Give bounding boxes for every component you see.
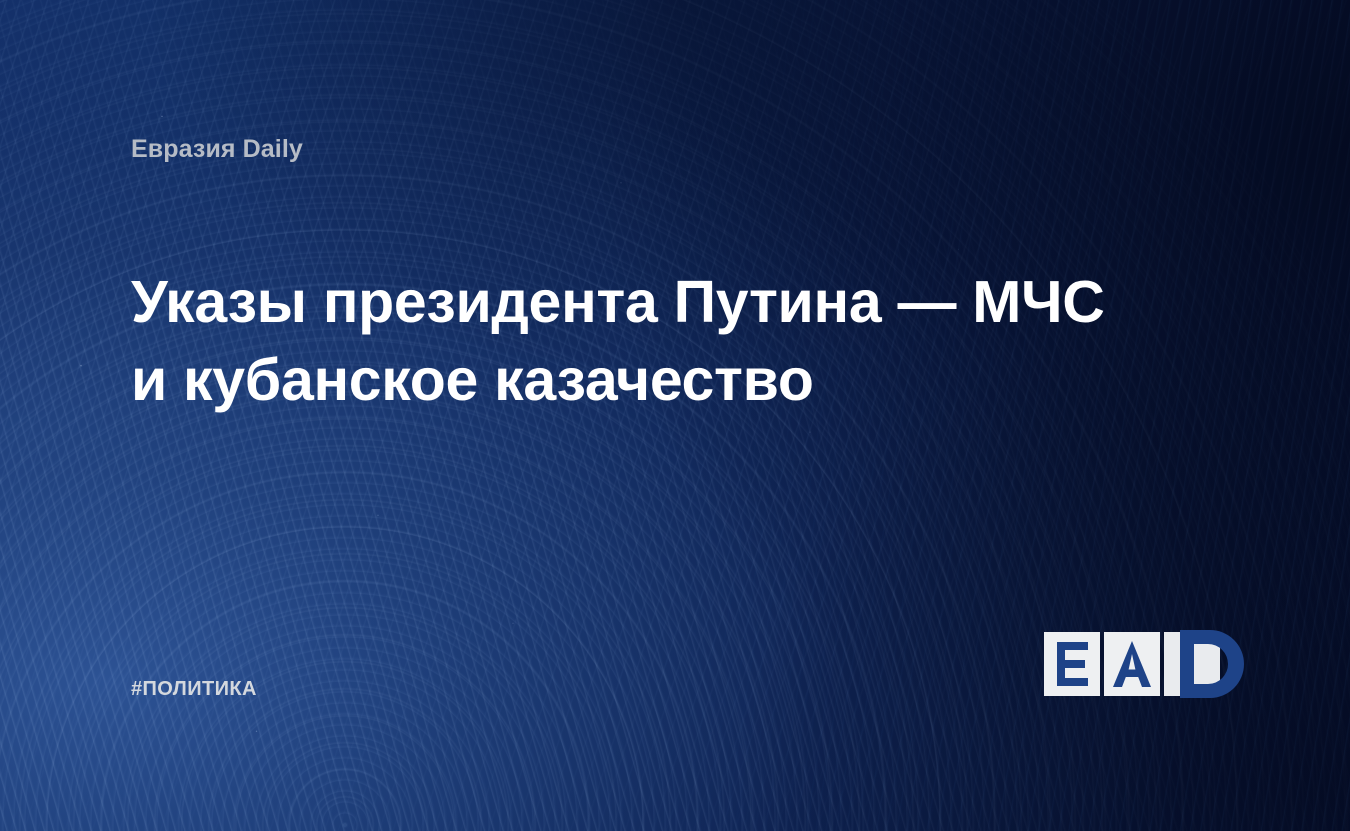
logo-tile-d (1164, 632, 1220, 696)
eadaily-logo[interactable] (1044, 632, 1220, 696)
logo-letter-e-icon (1044, 632, 1100, 696)
brand-wordmark: Евразия Daily (131, 135, 303, 164)
logo-letter-a-icon (1104, 632, 1160, 696)
page-title: Указы президента Путина — МЧС и кубанско… (131, 263, 1091, 419)
card-content: Евразия Daily Указы президента Путина — … (0, 0, 1350, 831)
logo-tile-e (1044, 632, 1100, 696)
category-hashtag[interactable]: #ПОЛИТИКА (131, 678, 257, 701)
logo-tile-a (1104, 632, 1160, 696)
news-share-card: Евразия Daily Указы президента Путина — … (0, 0, 1350, 831)
headline-line-2: и кубанское казачество (131, 341, 1091, 419)
headline-line-1: Указы президента Путина — МЧС (131, 263, 1091, 341)
